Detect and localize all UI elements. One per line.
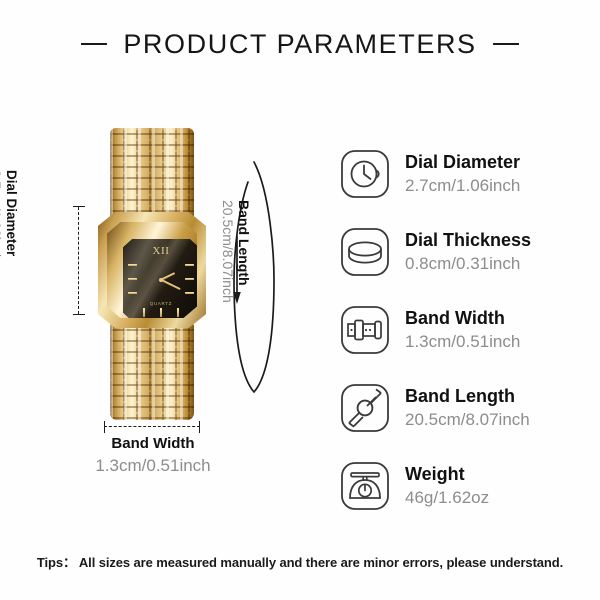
spec-text: Weight 46g/1.62oz bbox=[405, 463, 489, 509]
watch-strap-diagonal-icon bbox=[340, 383, 390, 433]
spec-row-dial-thickness: Dial Thickness 0.8cm/0.31inch bbox=[340, 221, 590, 283]
page-title-row: PRODUCT PARAMETERS bbox=[0, 26, 600, 62]
spec-row-weight: Weight 46g/1.62oz bbox=[340, 455, 590, 517]
spec-text: Dial Thickness 0.8cm/0.31inch bbox=[405, 229, 531, 275]
bracelet-link-highlights bbox=[110, 324, 194, 420]
spec-name: Band Width bbox=[405, 307, 520, 330]
spec-list: Dial Diameter 2.7cm/1.06inch Dial Thickn… bbox=[340, 143, 590, 517]
bracelet-upper bbox=[110, 128, 194, 220]
watch-product-image: XII QUARTZ bbox=[96, 128, 208, 420]
dial-index bbox=[143, 308, 145, 317]
dial-index bbox=[128, 278, 137, 280]
watch-dial: XII QUARTZ bbox=[123, 239, 199, 321]
title-rule-right bbox=[493, 43, 519, 45]
kitchen-scale-icon bbox=[340, 461, 390, 511]
spec-value: 46g/1.62oz bbox=[405, 486, 489, 509]
dial-minute-hand bbox=[161, 279, 181, 290]
dial-movement-label: QUARTZ bbox=[123, 301, 199, 306]
band-length-callout-name: Band Length bbox=[236, 200, 252, 286]
measure-cap-bottom bbox=[73, 314, 85, 315]
strap-buckle-icon bbox=[340, 305, 390, 355]
dial-diameter-measure-line bbox=[78, 207, 80, 314]
spec-text: Dial Diameter 2.7cm/1.06inch bbox=[405, 151, 520, 197]
spec-text: Band Width 1.3cm/0.51inch bbox=[405, 307, 520, 353]
spec-name: Band Length bbox=[405, 385, 530, 408]
dial-diameter-callout: Dial Diameter 2.7cm/1.06inch bbox=[0, 170, 24, 350]
watch-case: XII QUARTZ bbox=[98, 212, 206, 328]
spec-value: 1.3cm/0.51inch bbox=[405, 330, 520, 353]
watch-dial-icon bbox=[340, 149, 390, 199]
spec-row-dial-diameter: Dial Diameter 2.7cm/1.06inch bbox=[340, 143, 590, 205]
spec-value: 20.5cm/8.07inch bbox=[405, 408, 530, 431]
band-length-callout-value: 20.5cm/8.07inch bbox=[220, 200, 236, 303]
band-length-callout: Band Length 20.5cm/8.07inch bbox=[214, 200, 252, 400]
dial-roman-numeral: XII bbox=[123, 245, 199, 257]
dial-diameter-callout-name: Dial Diameter bbox=[5, 170, 20, 256]
tips-footer: Tips： All sizes are measured manually an… bbox=[0, 552, 600, 571]
product-parameters-infographic: PRODUCT PARAMETERS XII QUARTZ bbox=[0, 0, 600, 600]
measure-cap-top bbox=[73, 206, 85, 207]
dial-index bbox=[128, 264, 137, 266]
band-width-callout-name: Band Width bbox=[42, 434, 264, 454]
band-width-measure-line bbox=[104, 426, 200, 428]
spec-value: 0.8cm/0.31inch bbox=[405, 252, 531, 275]
band-width-callout-value: 1.3cm/0.51inch bbox=[42, 454, 264, 478]
spec-name: Dial Diameter bbox=[405, 151, 520, 174]
measure-cap-left bbox=[104, 421, 105, 433]
spec-row-band-length: Band Length 20.5cm/8.07inch bbox=[340, 377, 590, 439]
bracelet-lower bbox=[110, 324, 194, 420]
measure-cap-right bbox=[199, 421, 200, 433]
dial-center-hub bbox=[159, 278, 163, 282]
bracelet-link-highlights bbox=[110, 128, 194, 220]
spec-value: 2.7cm/1.06inch bbox=[405, 174, 520, 197]
disc-thickness-icon bbox=[340, 227, 390, 277]
spec-name: Dial Thickness bbox=[405, 229, 531, 252]
spec-row-band-width: Band Width 1.3cm/0.51inch bbox=[340, 299, 590, 361]
page-title: PRODUCT PARAMETERS bbox=[123, 29, 476, 60]
dial-index bbox=[160, 308, 162, 317]
spec-text: Band Length 20.5cm/8.07inch bbox=[405, 385, 530, 431]
dial-index bbox=[185, 292, 194, 294]
dial-index bbox=[185, 264, 194, 266]
dial-index bbox=[177, 308, 179, 317]
watch-bezel: XII QUARTZ bbox=[107, 222, 197, 318]
band-width-callout: Band Width 1.3cm/0.51inch bbox=[42, 434, 264, 478]
spec-name: Weight bbox=[405, 463, 489, 486]
dial-diameter-callout-value: 2.7cm/1.06inch bbox=[0, 170, 4, 262]
dial-index bbox=[185, 278, 194, 280]
dial-index bbox=[128, 292, 137, 294]
title-rule-left bbox=[81, 43, 107, 45]
